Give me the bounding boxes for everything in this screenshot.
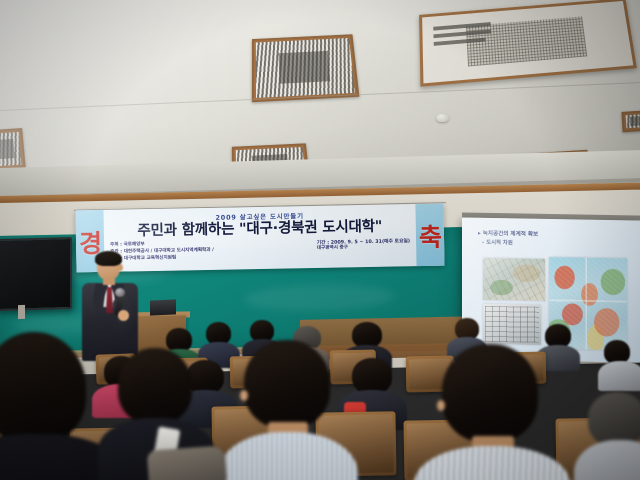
banner-period-block: 기간 : 2009. 9. 5 ~ 10. 31(매주 토요일) 대구광역시 중… [317,237,411,253]
slide-bullet-primary: ▸ 녹지공간의 체계적 확보 [478,229,538,238]
banner-char-right: 축 [419,218,443,254]
photo-scene: ▸ 녹지공간의 체계적 확보 - 도시적 차원 경 축 2009 살고싶은 도시… [0,0,640,480]
audience [0,300,640,480]
handbag [147,445,228,480]
slide-aerial-photo [483,258,545,301]
slide-bullet-secondary: - 도시적 차원 [482,238,513,247]
banner-end-panel-right: 축 [415,204,444,267]
banner-sponsor-right: 대구광역시 중구 [317,244,411,253]
